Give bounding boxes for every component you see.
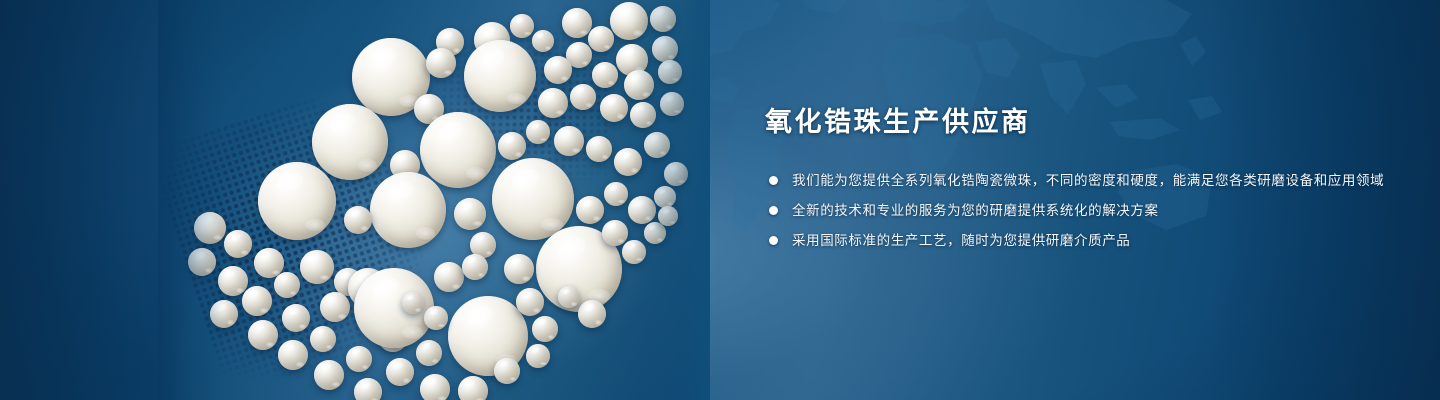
list-item-label: 我们能为您提供全系列氧化锆陶瓷微珠，不同的密度和硬度，能满足您各类研磨设备和应用… [792,173,1384,188]
bullet-circle-icon [769,176,778,185]
list-item: 我们能为您提供全系列氧化锆陶瓷微珠，不同的密度和硬度，能满足您各类研磨设备和应用… [765,170,1385,192]
list-item-label: 全新的技术和专业的服务为您的研磨提供系统化的解决方案 [792,203,1159,218]
bullet-circle-icon [769,206,778,215]
page-title: 氧化锆珠生产供应商 [765,106,1385,140]
feature-list: 我们能为您提供全系列氧化锆陶瓷微珠，不同的密度和硬度，能满足您各类研磨设备和应用… [765,170,1385,253]
hero-banner: 氧化锆珠生产供应商 我们能为您提供全系列氧化锆陶瓷微珠，不同的密度和硬度，能满足… [0,0,1440,400]
bullet-circle-icon [769,236,778,245]
list-item-label: 采用国际标准的生产工艺，随时为您提供研磨介质产品 [792,233,1130,248]
banner-copy: 氧化锆珠生产供应商 我们能为您提供全系列氧化锆陶瓷微珠，不同的密度和硬度，能满足… [765,106,1385,261]
list-item: 全新的技术和专业的服务为您的研磨提供系统化的解决方案 [765,200,1385,222]
list-item: 采用国际标准的生产工艺，随时为您提供研磨介质产品 [765,230,1385,252]
